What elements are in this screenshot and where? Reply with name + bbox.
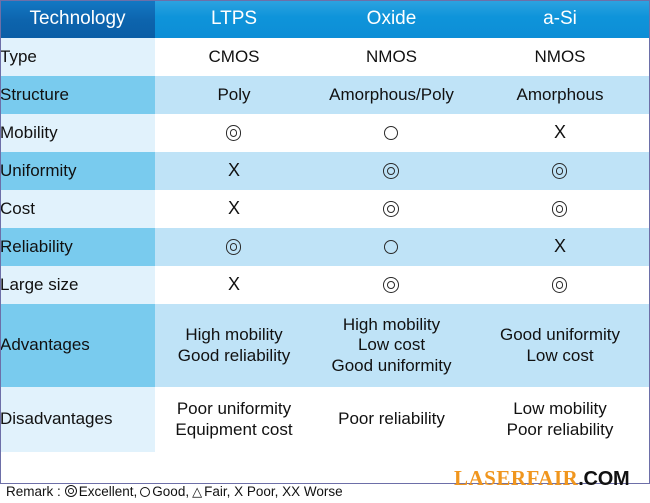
remark-excellent-label: Excellent, xyxy=(79,484,138,499)
cell-structure-ltps: Poly xyxy=(155,76,313,114)
excellent-symbol-icon xyxy=(552,201,569,218)
column-header-a-si: a-Si xyxy=(470,0,650,38)
column-header-oxide: Oxide xyxy=(313,0,470,38)
watermark-tld: .COM xyxy=(578,468,629,490)
poor-symbol-icon: X xyxy=(228,275,240,293)
table-header-row: Technology LTPS Oxide a-Si xyxy=(0,0,650,38)
cell-large-size-ltps: X xyxy=(155,266,313,304)
row-label-type: Type xyxy=(0,38,155,76)
table-row: Uniformity X xyxy=(0,152,650,190)
cell-type-oxide: NMOS xyxy=(313,38,470,76)
cell-advantages-a-si: Good uniformityLow cost xyxy=(470,304,650,387)
table-row: Cost X xyxy=(0,190,650,228)
cell-cost-ltps: X xyxy=(155,190,313,228)
poor-symbol-icon: X xyxy=(228,161,240,179)
remark-prefix: Remark : xyxy=(6,484,61,499)
row-label-reliability: Reliability xyxy=(0,228,155,266)
poor-symbol-icon: X xyxy=(228,199,240,217)
row-label-large-size: Large size xyxy=(0,266,155,304)
cell-mobility-ltps xyxy=(155,114,313,152)
excellent-symbol-icon xyxy=(226,125,243,142)
remark-legend: Remark :Excellent,Good,△Fair, X Poor, XX… xyxy=(6,484,343,500)
cell-mobility-oxide xyxy=(313,114,470,152)
comparison-table-page: Technology LTPS Oxide a-Si Type CMOS NMO… xyxy=(0,0,650,503)
excellent-symbol-icon xyxy=(226,239,243,256)
cell-disadvantages-ltps: Poor uniformityEquipment cost xyxy=(155,387,313,452)
cell-disadvantages-a-si: Low mobilityPoor reliability xyxy=(470,387,650,452)
remark-good-label: Good, xyxy=(152,484,189,499)
good-symbol-icon xyxy=(384,126,399,141)
remark-fair-label: Fair, xyxy=(204,484,230,499)
remark-poor-label: X Poor, xyxy=(234,484,278,499)
table-row: Structure Poly Amorphous/Poly Amorphous xyxy=(0,76,650,114)
excellent-symbol-icon xyxy=(65,485,77,497)
cell-reliability-a-si: X xyxy=(470,228,650,266)
excellent-symbol-icon xyxy=(383,277,400,294)
cell-mobility-a-si: X xyxy=(470,114,650,152)
cell-type-ltps: CMOS xyxy=(155,38,313,76)
row-label-disadvantages: Disadvantages xyxy=(0,387,155,452)
row-label-uniformity: Uniformity xyxy=(0,152,155,190)
excellent-symbol-icon xyxy=(552,277,569,294)
cell-large-size-a-si xyxy=(470,266,650,304)
column-header-technology: Technology xyxy=(0,0,155,38)
row-label-structure: Structure xyxy=(0,76,155,114)
good-symbol-icon xyxy=(140,487,150,497)
column-header-ltps: LTPS xyxy=(155,0,313,38)
cell-reliability-ltps xyxy=(155,228,313,266)
cell-reliability-oxide xyxy=(313,228,470,266)
cell-type-a-si: NMOS xyxy=(470,38,650,76)
table-row: Type CMOS NMOS NMOS xyxy=(0,38,650,76)
cell-uniformity-ltps: X xyxy=(155,152,313,190)
cell-large-size-oxide xyxy=(313,266,470,304)
cell-uniformity-oxide xyxy=(313,152,470,190)
remark-worse-label: XX Worse xyxy=(282,484,343,499)
cell-advantages-oxide: High mobilityLow costGood uniformity xyxy=(313,304,470,387)
cell-cost-oxide xyxy=(313,190,470,228)
table-row: Reliability X xyxy=(0,228,650,266)
row-label-mobility: Mobility xyxy=(0,114,155,152)
fair-symbol-icon: △ xyxy=(192,484,202,500)
excellent-symbol-icon xyxy=(383,163,400,180)
table-row: Mobility X xyxy=(0,114,650,152)
row-label-advantages: Advantages xyxy=(0,304,155,387)
poor-symbol-icon: X xyxy=(554,237,566,255)
watermark-brand: LASERFAIR xyxy=(454,466,578,490)
excellent-symbol-icon xyxy=(383,201,400,218)
technology-comparison-table: Technology LTPS Oxide a-Si Type CMOS NMO… xyxy=(0,0,650,452)
cell-disadvantages-oxide: Poor reliability xyxy=(313,387,470,452)
cell-structure-a-si: Amorphous xyxy=(470,76,650,114)
excellent-symbol-icon xyxy=(552,163,569,180)
table-row: Disadvantages Poor uniformityEquipment c… xyxy=(0,387,650,452)
cell-advantages-ltps: High mobilityGood reliability xyxy=(155,304,313,387)
watermark: LASERFAIR.COM xyxy=(454,468,629,489)
table-row: Large size X xyxy=(0,266,650,304)
cell-uniformity-a-si xyxy=(470,152,650,190)
poor-symbol-icon: X xyxy=(554,123,566,141)
cell-structure-oxide: Amorphous/Poly xyxy=(313,76,470,114)
row-label-cost: Cost xyxy=(0,190,155,228)
good-symbol-icon xyxy=(384,240,399,255)
table-row: Advantages High mobilityGood reliability… xyxy=(0,304,650,387)
cell-cost-a-si xyxy=(470,190,650,228)
